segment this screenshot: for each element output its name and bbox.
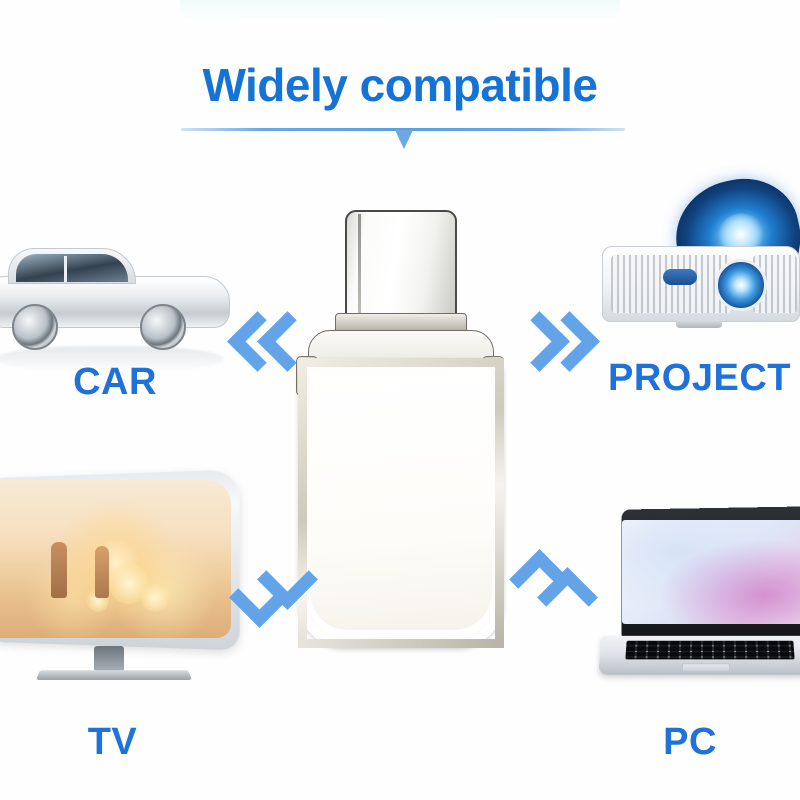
pc-illustration (600, 508, 800, 708)
car-wheel-front (140, 304, 186, 350)
divider-caret-icon (395, 130, 413, 149)
arrow-to-pc (514, 562, 598, 620)
tv-stand-base (36, 670, 192, 680)
tv-stand-neck (94, 646, 124, 672)
top-edge-band (180, 0, 620, 22)
tv-bokeh-2 (141, 584, 169, 612)
laptop-trackpad (682, 663, 730, 671)
device-label-car: CAR (0, 362, 230, 402)
tv-illustration (0, 474, 244, 714)
projector-body (602, 246, 800, 322)
usb-flash-drive (290, 210, 510, 660)
projector-lens-small (715, 259, 767, 311)
tv-figure-right (95, 546, 109, 598)
laptop-screen (622, 520, 800, 624)
car-wheel-rear (12, 304, 58, 350)
arrow-to-car (232, 312, 316, 370)
projector-foot (676, 320, 722, 328)
drive-loop-inner (310, 372, 492, 630)
car-window (16, 254, 128, 282)
arrow-to-projector (512, 312, 596, 370)
device-label-pc: PC (580, 722, 800, 762)
tv-figure-left (51, 542, 67, 598)
car-illustration (0, 246, 240, 356)
projector-knob (663, 269, 697, 285)
page-title: Widely compatible (0, 58, 800, 112)
laptop-keyboard (625, 641, 794, 660)
projector-illustration (590, 180, 800, 340)
arrow-to-tv (236, 562, 320, 620)
tv-screen (0, 480, 231, 638)
device-label-projector: PROJECT (608, 358, 791, 398)
device-label-tv: TV (0, 722, 225, 762)
usb-c-connector (345, 210, 457, 318)
compatibility-infographic: Widely compatible CAR PROJECT (0, 0, 800, 800)
